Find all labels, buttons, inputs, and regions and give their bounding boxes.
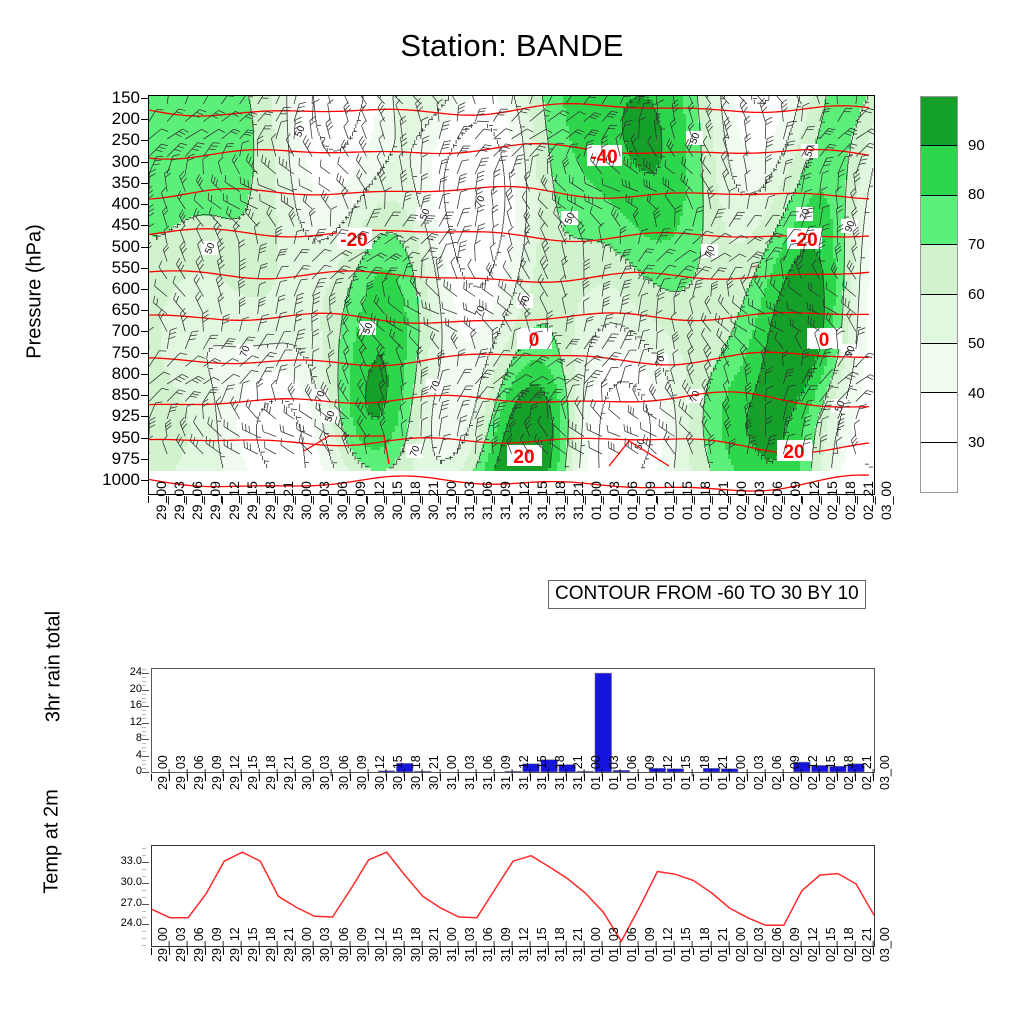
rain-ytick: [142, 690, 149, 691]
main-ytick: [141, 331, 148, 332]
rain-yminortick: [142, 768, 146, 769]
temp-ytick: [142, 862, 149, 863]
temp-xlabel: 31_00: [445, 927, 459, 962]
temp-xlabel: 29_21: [282, 927, 296, 962]
temp-xlabel: 30_21: [427, 927, 441, 962]
temp-xlabel: 31_21: [571, 927, 585, 962]
contour-range-note: CONTOUR FROM -60 TO 30 BY 10: [548, 580, 866, 609]
temp-xlabel: 31_18: [553, 927, 567, 962]
temp-xlabel: 30_00: [300, 927, 314, 962]
main-xlabel: 31_00: [443, 481, 459, 520]
rain-xlabel: 31_12: [517, 755, 531, 790]
temp-xlabel: 01_06: [625, 927, 639, 962]
main-xlabel: 02_06: [769, 481, 785, 520]
rain-xlabel: 29_00: [156, 755, 170, 790]
main-xlabel: 02_15: [824, 481, 840, 520]
rain-xlabel: 01_09: [643, 755, 657, 790]
main-ylabel: 300: [80, 153, 140, 170]
temp-yminortick: [142, 945, 146, 946]
rain-yminortick: [142, 685, 146, 686]
rain-yminortick: [142, 681, 146, 682]
main-ylabel: 800: [80, 365, 140, 382]
temp-xlabel: 01_21: [716, 927, 730, 962]
temp-xlabel: 31_03: [463, 927, 477, 962]
temp-xlabel: 01_18: [698, 927, 712, 962]
main-ytick: [141, 438, 148, 439]
rain-xlabel: 02_18: [842, 755, 856, 790]
main-ytick: [141, 247, 148, 248]
main-xlabel: 02_03: [751, 481, 767, 520]
main-xlabel: 01_21: [715, 481, 731, 520]
rh-colorbar[interactable]: [920, 96, 958, 493]
rain-ytick: [142, 772, 149, 773]
temp-xlabel: 29_00: [156, 927, 170, 962]
rain-ylabel: 4: [102, 750, 142, 761]
rain-xtick: [693, 774, 694, 781]
temp-xlabel: 01_12: [661, 927, 675, 962]
temp-xlabel: 02_15: [824, 927, 838, 962]
rain-yminortick: [142, 694, 146, 695]
rain-xlabel: 30_15: [391, 755, 405, 790]
rain-xtick: [151, 774, 152, 781]
rain-xlabel: 02_06: [770, 755, 784, 790]
main-xlabel: 30_15: [389, 481, 405, 520]
temp-ytick: [142, 904, 149, 905]
colorbar-tick-label: 50: [968, 336, 985, 351]
rain-yminortick: [142, 714, 146, 715]
temp-ylabel: 33.0: [98, 856, 142, 867]
rain-xlabel: 29_06: [192, 755, 206, 790]
main-ytick: [141, 395, 148, 396]
temp-ylabel: 27.0: [98, 898, 142, 909]
rain-xlabel: 30_21: [427, 755, 441, 790]
temp-yaxis-label: Temp at 2m: [41, 762, 64, 922]
main-ytick: [141, 459, 148, 460]
main-ylabel: 550: [80, 259, 140, 276]
temp-xlabel: 30_09: [355, 927, 369, 962]
rain-ytick: [142, 706, 149, 707]
colorbar-band: [921, 344, 957, 393]
rain-xlabel: 30_03: [318, 755, 332, 790]
temp-xlabel: 02_03: [752, 927, 766, 962]
rain-xlabel: 02_09: [788, 755, 802, 790]
main-xlabel: 31_09: [497, 481, 513, 520]
rain-ytick: [142, 756, 149, 757]
main-ylabel: 975: [80, 450, 140, 467]
temp-xtick: [693, 948, 694, 955]
rain-ylabel: 0: [102, 766, 142, 777]
main-ylabel: 150: [80, 89, 140, 106]
main-ytick: [141, 374, 148, 375]
main-xlabel: 02_12: [806, 481, 822, 520]
rain-xlabel: 29_15: [246, 755, 260, 790]
temp-yminortick: [142, 890, 146, 891]
main-xlabel: 01_00: [588, 481, 604, 520]
main-xlabel: 29_12: [226, 481, 242, 520]
main-xlabel: 30_00: [298, 481, 314, 520]
temp-xlabel: 29_06: [192, 927, 206, 962]
rain-xlabel: 01_03: [607, 755, 621, 790]
page-title: Station: BANDE: [0, 28, 1024, 64]
rain-xlabel: 31_18: [553, 755, 567, 790]
temp-xlabel: 30_06: [337, 927, 351, 962]
main-ytick: [141, 183, 148, 184]
main-xlabel: 30_09: [352, 481, 368, 520]
rain-yminortick: [142, 731, 146, 732]
colorbar-tick-label: 30: [968, 435, 985, 450]
temp-xlabel: 29_03: [174, 927, 188, 962]
main-xlabel: 30_12: [371, 481, 387, 520]
main-xlabel: 29_15: [244, 481, 260, 520]
rh-contour-svg: 5050505050705070707070907050707070709050…: [149, 96, 874, 494]
rain-xlabel: 30_09: [355, 755, 369, 790]
rain-xlabel: 01_21: [716, 755, 730, 790]
main-xaxis-tick-labels: 29_0029_0329_0629_0929_1229_1529_1829_21…: [148, 520, 875, 580]
colorbar-band: [921, 196, 957, 245]
temp-yminortick: [142, 869, 146, 870]
main-ytick: [141, 140, 148, 141]
main-xlabel: 03_00: [878, 481, 894, 520]
temp-xlabel: 02_18: [842, 927, 856, 962]
rain-xlabel: 02_12: [806, 755, 820, 790]
rain-yaxis-tick-labels: 04812162024: [100, 668, 142, 773]
main-ytick: [141, 98, 148, 99]
main-ylabel: 650: [80, 301, 140, 318]
colorbar-band: [921, 393, 957, 442]
main-ytick: [141, 480, 148, 481]
main-ylabel: 350: [80, 174, 140, 191]
main-xlabel: 02_00: [733, 481, 749, 520]
temp-yminortick: [142, 855, 146, 856]
main-ylabel: 500: [80, 238, 140, 255]
rain-xlabel: 02_21: [860, 755, 874, 790]
temp-ytick: [142, 924, 149, 925]
colorbar-band: [921, 295, 957, 344]
rain-yminortick: [142, 735, 146, 736]
main-xlabel: 31_03: [461, 481, 477, 520]
colorbar-tick-label: 90: [968, 138, 985, 153]
rain-xlabel: 30_06: [337, 755, 351, 790]
colorbar-band: [921, 443, 957, 492]
rain-yminortick: [142, 743, 146, 744]
main-ylabel: 250: [80, 131, 140, 148]
rain-xtick: [332, 774, 333, 781]
temp-xlabel: 02_12: [806, 927, 820, 962]
temp-xlabel: 02_00: [734, 927, 748, 962]
rain-yminortick: [142, 764, 146, 765]
main-xlabel: 01_09: [642, 481, 658, 520]
main-xlabel: 29_03: [171, 481, 187, 520]
main-xlabel: 01_15: [679, 481, 695, 520]
temp-xlabel: 01_09: [643, 927, 657, 962]
temp-ylabel: 30.0: [98, 877, 142, 888]
main-ylabel: 1000: [80, 471, 140, 488]
rain-xlabel: 02_15: [824, 755, 838, 790]
main-xlabel: 01_03: [606, 481, 622, 520]
rain-ytick: [142, 673, 149, 674]
main-xlabel: 29_21: [280, 481, 296, 520]
main-ytick: [141, 162, 148, 163]
temp-xlabel: 02_21: [860, 927, 874, 962]
rain-yminortick: [142, 727, 146, 728]
main-ytick: [141, 416, 148, 417]
rain-yminortick: [142, 760, 146, 761]
temp-yminortick: [142, 876, 146, 877]
rain-yminortick: [142, 669, 146, 670]
main-ylabel: 950: [80, 429, 140, 446]
main-xlabel: 31_15: [534, 481, 550, 520]
colorbar-tick-label: 40: [968, 386, 985, 401]
rain-ylabel: 20: [102, 684, 142, 695]
main-xlabel: 02_21: [860, 481, 876, 520]
temp-yaxis-tick-labels: 24.027.030.033.0: [96, 845, 142, 947]
rain-yminortick: [142, 698, 146, 699]
main-xlabel: 29_00: [153, 481, 169, 520]
temp-yminortick: [142, 848, 146, 849]
temp-xlabel: 30_03: [318, 927, 332, 962]
main-xlabel: 31_06: [479, 481, 495, 520]
temp-yminortick: [142, 917, 146, 918]
main-ytick: [141, 310, 148, 311]
main-ytick: [141, 225, 148, 226]
temp-xlabel: 29_15: [246, 927, 260, 962]
main-xlabel: 30_21: [425, 481, 441, 520]
main-xlabel: 01_06: [624, 481, 640, 520]
temp-xlabel: 31_06: [481, 927, 495, 962]
main-ylabel: 925: [80, 407, 140, 424]
temp-xlabel: 01_03: [607, 927, 621, 962]
temp-xlabel: 02_06: [770, 927, 784, 962]
main-xtick: [148, 496, 149, 503]
rain-xlabel: 31_03: [463, 755, 477, 790]
temp-xlabel: 29_18: [264, 927, 278, 962]
rain-xlabel: 31_21: [571, 755, 585, 790]
main-ytick: [141, 204, 148, 205]
rain-xlabel: 01_15: [679, 755, 693, 790]
main-xlabel: 29_09: [207, 481, 223, 520]
rain-yminortick: [142, 702, 146, 703]
rain-xlabel: 01_00: [589, 755, 603, 790]
temp-xlabel: 02_09: [788, 927, 802, 962]
temp-xlabel: 30_12: [373, 927, 387, 962]
rain-xlabel: 31_06: [481, 755, 495, 790]
colorbar-tick-label: 80: [968, 187, 985, 202]
rain-xlabel: 31_09: [499, 755, 513, 790]
rain-ylabel: 16: [102, 700, 142, 711]
colorbar-band: [921, 146, 957, 195]
main-xlabel: 30_06: [334, 481, 350, 520]
temp-xlabel: 31_09: [499, 927, 513, 962]
main-ytick: [141, 353, 148, 354]
rain-xlabel: 31_00: [445, 755, 459, 790]
rain-xlabel: 02_00: [734, 755, 748, 790]
main-yaxis-label: Pressure (hPa): [24, 162, 47, 422]
rain-yaxis-label: 3hr rain total: [43, 577, 66, 757]
temp-yminortick: [142, 938, 146, 939]
main-ylabel: 600: [80, 280, 140, 297]
main-xlabel: 30_03: [316, 481, 332, 520]
main-ylabel: 700: [80, 322, 140, 339]
main-ylabel: 200: [80, 110, 140, 127]
colorbar-band: [921, 97, 957, 146]
temp-xtick: [332, 948, 333, 955]
temp-yminortick: [142, 911, 146, 912]
temp-xlabel: 03_00: [878, 927, 892, 962]
rain-ylabel: 12: [102, 717, 142, 728]
temp-xlabel: 30_18: [409, 927, 423, 962]
temp-xlabel: 30_15: [391, 927, 405, 962]
main-ytick: [141, 289, 148, 290]
rain-yminortick: [142, 751, 146, 752]
temp-ytick: [142, 883, 149, 884]
main-ylabel: 450: [80, 216, 140, 233]
rain-ylabel: 24: [102, 667, 142, 678]
main-ylabel: 750: [80, 344, 140, 361]
temp-ylabel: 24.0: [98, 918, 142, 929]
rain-yminortick: [142, 718, 146, 719]
rain-xlabel: 30_18: [409, 755, 423, 790]
temp-xtick: [151, 948, 152, 955]
rain-yminortick: [142, 710, 146, 711]
rh-time-height-chart[interactable]: 5050505050705070707070907050707070709050…: [148, 95, 875, 495]
rain-yminortick: [142, 747, 146, 748]
main-xlabel: 02_18: [842, 481, 858, 520]
temp-xlabel: 31_12: [517, 927, 531, 962]
main-ytick: [141, 119, 148, 120]
rain-xlabel: 01_18: [698, 755, 712, 790]
temp-yminortick: [142, 897, 146, 898]
main-xlabel: 02_09: [787, 481, 803, 520]
rain-xlabel: 31_15: [535, 755, 549, 790]
rain-xlabel: 03_00: [878, 755, 892, 790]
temp-xlabel: 29_12: [228, 927, 242, 962]
rain-ylabel: 8: [102, 733, 142, 744]
rain-xlabel: 29_21: [282, 755, 296, 790]
temp-xlabel: 01_15: [679, 927, 693, 962]
rain-xlabel: 29_03: [174, 755, 188, 790]
main-xlabel: 30_18: [407, 481, 423, 520]
main-xlabel: 31_18: [552, 481, 568, 520]
main-xlabel: 01_18: [697, 481, 713, 520]
temp-xlabel: 29_09: [210, 927, 224, 962]
main-ylabel: 400: [80, 195, 140, 212]
main-xlabel: 31_12: [516, 481, 532, 520]
temp-xaxis-tick-labels: 29_0029_0329_0629_0929_1229_1529_1829_21…: [151, 962, 875, 1018]
main-xlabel: 01_12: [661, 481, 677, 520]
rain-ytick: [142, 739, 149, 740]
colorbar-tick-label: 70: [968, 237, 985, 252]
rain-xlabel: 01_06: [625, 755, 639, 790]
main-yaxis-tick-labels: 1502002503003504004505005506006507007508…: [78, 95, 140, 495]
rain-xlabel: 29_09: [210, 755, 224, 790]
temp-xlabel: 31_15: [535, 927, 549, 962]
main-ytick: [141, 268, 148, 269]
main-ylabel: 850: [80, 386, 140, 403]
rain-xaxis-tick-labels: 29_0029_0329_0629_0929_1229_1529_1829_21…: [151, 790, 875, 846]
rain-ytick: [142, 723, 149, 724]
main-xlabel: 31_21: [570, 481, 586, 520]
rain-xlabel: 01_12: [661, 755, 675, 790]
temp-xlabel: 01_00: [589, 927, 603, 962]
rain-xlabel: 29_18: [264, 755, 278, 790]
temp-yminortick: [142, 931, 146, 932]
rain-yminortick: [142, 677, 146, 678]
rain-xlabel: 30_00: [300, 755, 314, 790]
rain-xlabel: 30_12: [373, 755, 387, 790]
rain-xlabel: 29_12: [228, 755, 242, 790]
colorbar-band: [921, 245, 957, 294]
main-xlabel: 29_06: [189, 481, 205, 520]
rain-xlabel: 02_03: [752, 755, 766, 790]
main-xlabel: 29_18: [262, 481, 278, 520]
colorbar-tick-label: 60: [968, 287, 985, 302]
